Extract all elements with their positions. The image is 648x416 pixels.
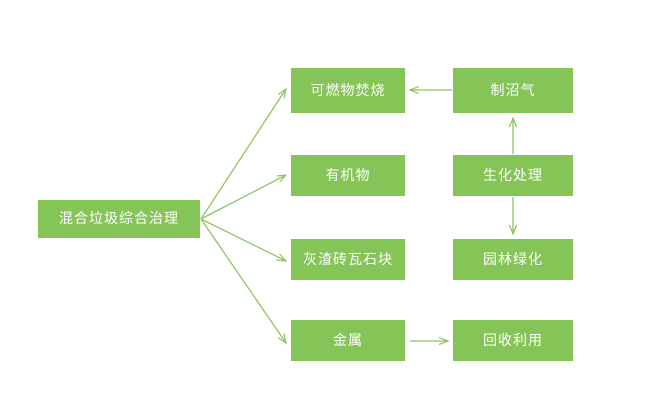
node-landscaping-label: 园林绿化 <box>483 253 543 267</box>
edge-source-to-metal <box>201 219 286 343</box>
node-recycling-reuse[interactable]: 回收利用 <box>453 320 573 361</box>
node-biochemical-treatment-label: 生化处理 <box>483 169 543 183</box>
node-organic-matter[interactable]: 有机物 <box>291 155 405 196</box>
edge-source-to-slag <box>201 219 286 261</box>
node-recycling-reuse-label: 回收利用 <box>483 334 543 348</box>
node-biogas-production-label: 制沼气 <box>491 84 536 98</box>
node-biogas-production[interactable]: 制沼气 <box>453 68 573 113</box>
node-slag-bricks-tiles-stones[interactable]: 灰渣砖瓦石块 <box>291 239 405 280</box>
node-combustible-incineration-label: 可燃物焚烧 <box>311 84 386 98</box>
node-organic-matter-label: 有机物 <box>326 169 371 183</box>
node-source[interactable]: 混合垃圾综合治理 <box>38 200 200 238</box>
edge-source-to-burn <box>201 89 286 219</box>
node-combustible-incineration[interactable]: 可燃物焚烧 <box>291 68 405 113</box>
flowchart-diagram: 混合垃圾综合治理 可燃物焚烧 制沼气 有机物 生化处理 灰渣砖瓦石块 园林绿化 … <box>0 0 648 416</box>
node-metal-label: 金属 <box>333 334 363 348</box>
node-source-label: 混合垃圾综合治理 <box>59 212 179 226</box>
node-biochemical-treatment[interactable]: 生化处理 <box>453 155 573 196</box>
node-slag-bricks-tiles-stones-label: 灰渣砖瓦石块 <box>303 253 393 267</box>
edge-source-to-organic <box>201 175 286 219</box>
node-metal[interactable]: 金属 <box>291 320 405 361</box>
node-landscaping[interactable]: 园林绿化 <box>453 239 573 280</box>
